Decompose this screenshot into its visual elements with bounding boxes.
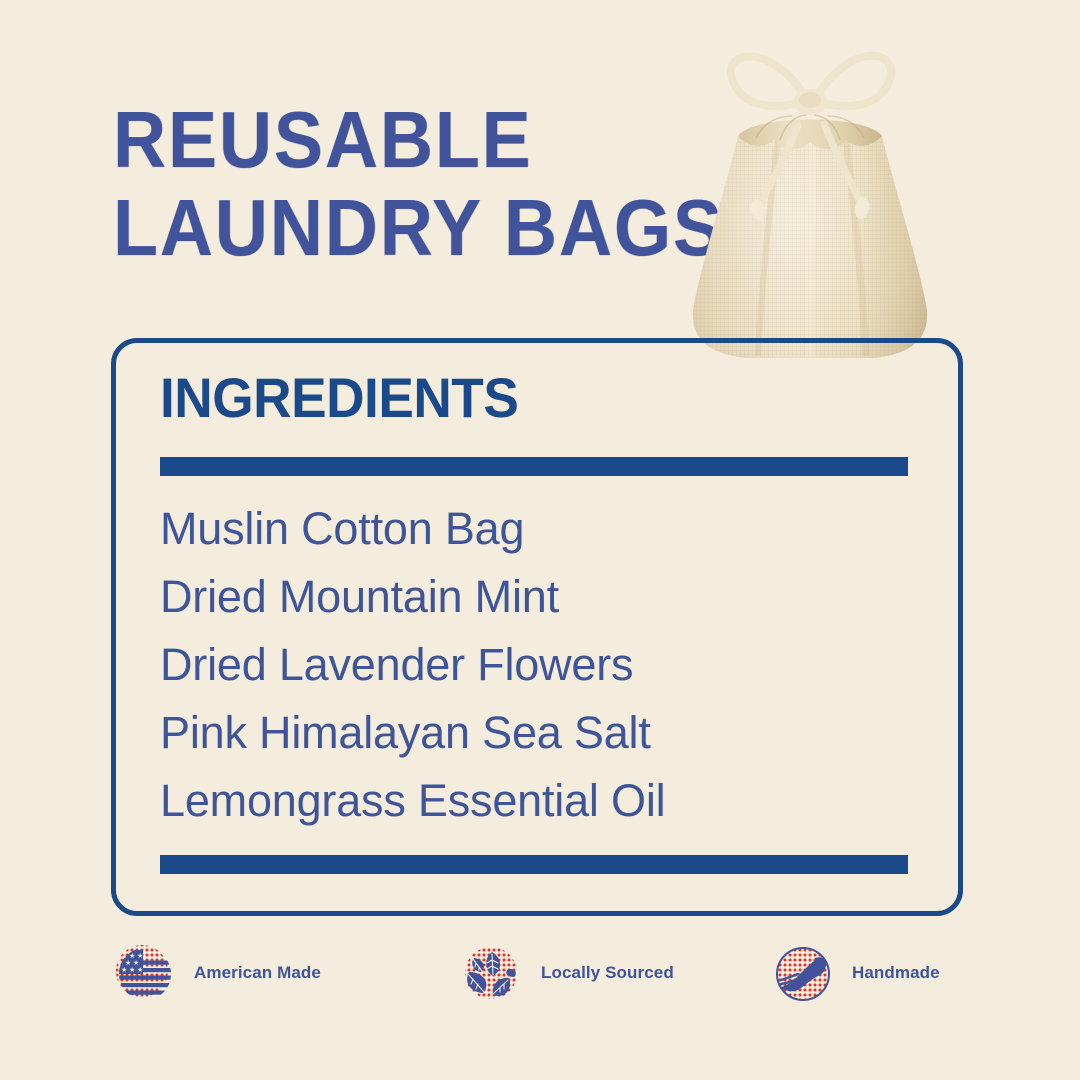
svg-text:★: ★ bbox=[137, 966, 143, 974]
leaves-icon bbox=[457, 938, 527, 1008]
svg-text:★: ★ bbox=[129, 966, 135, 974]
badge-label: Handmade bbox=[852, 963, 940, 983]
card-heading: INGREDIENTS bbox=[160, 365, 518, 430]
product-label-poster: REUSABLE LAUNDRY BAGS bbox=[0, 0, 1080, 1080]
badge-label: Locally Sourced bbox=[541, 963, 674, 983]
title-line-2: LAUNDRY BAGS bbox=[113, 184, 683, 272]
list-item: Muslin Cotton Bag bbox=[160, 495, 920, 563]
ingredients-card: INGREDIENTS Muslin Cotton Bag Dried Moun… bbox=[111, 338, 963, 916]
page-title: REUSABLE LAUNDRY BAGS bbox=[113, 96, 733, 272]
badge-handmade: Handmade bbox=[768, 938, 940, 1008]
badge-locally-sourced: Locally Sourced bbox=[457, 938, 674, 1008]
list-item: Dried Lavender Flowers bbox=[160, 631, 920, 699]
hand-icon bbox=[768, 938, 838, 1008]
svg-text:★: ★ bbox=[121, 966, 127, 974]
divider-top bbox=[160, 457, 908, 476]
muslin-bag-image bbox=[660, 18, 960, 366]
title-line-1: REUSABLE bbox=[113, 96, 683, 184]
american-flag-icon: ★★★ ★★ ★★★ bbox=[110, 938, 180, 1008]
ingredients-list: Muslin Cotton Bag Dried Mountain Mint Dr… bbox=[160, 495, 920, 835]
list-item: Pink Himalayan Sea Salt bbox=[160, 699, 920, 767]
badge-label: American Made bbox=[194, 963, 321, 983]
list-item: Lemongrass Essential Oil bbox=[160, 767, 920, 835]
list-item: Dried Mountain Mint bbox=[160, 563, 920, 631]
divider-bottom bbox=[160, 855, 908, 874]
trust-badges: ★★★ ★★ ★★★ American Made bbox=[0, 938, 1080, 1038]
badge-american-made: ★★★ ★★ ★★★ American Made bbox=[110, 938, 321, 1008]
